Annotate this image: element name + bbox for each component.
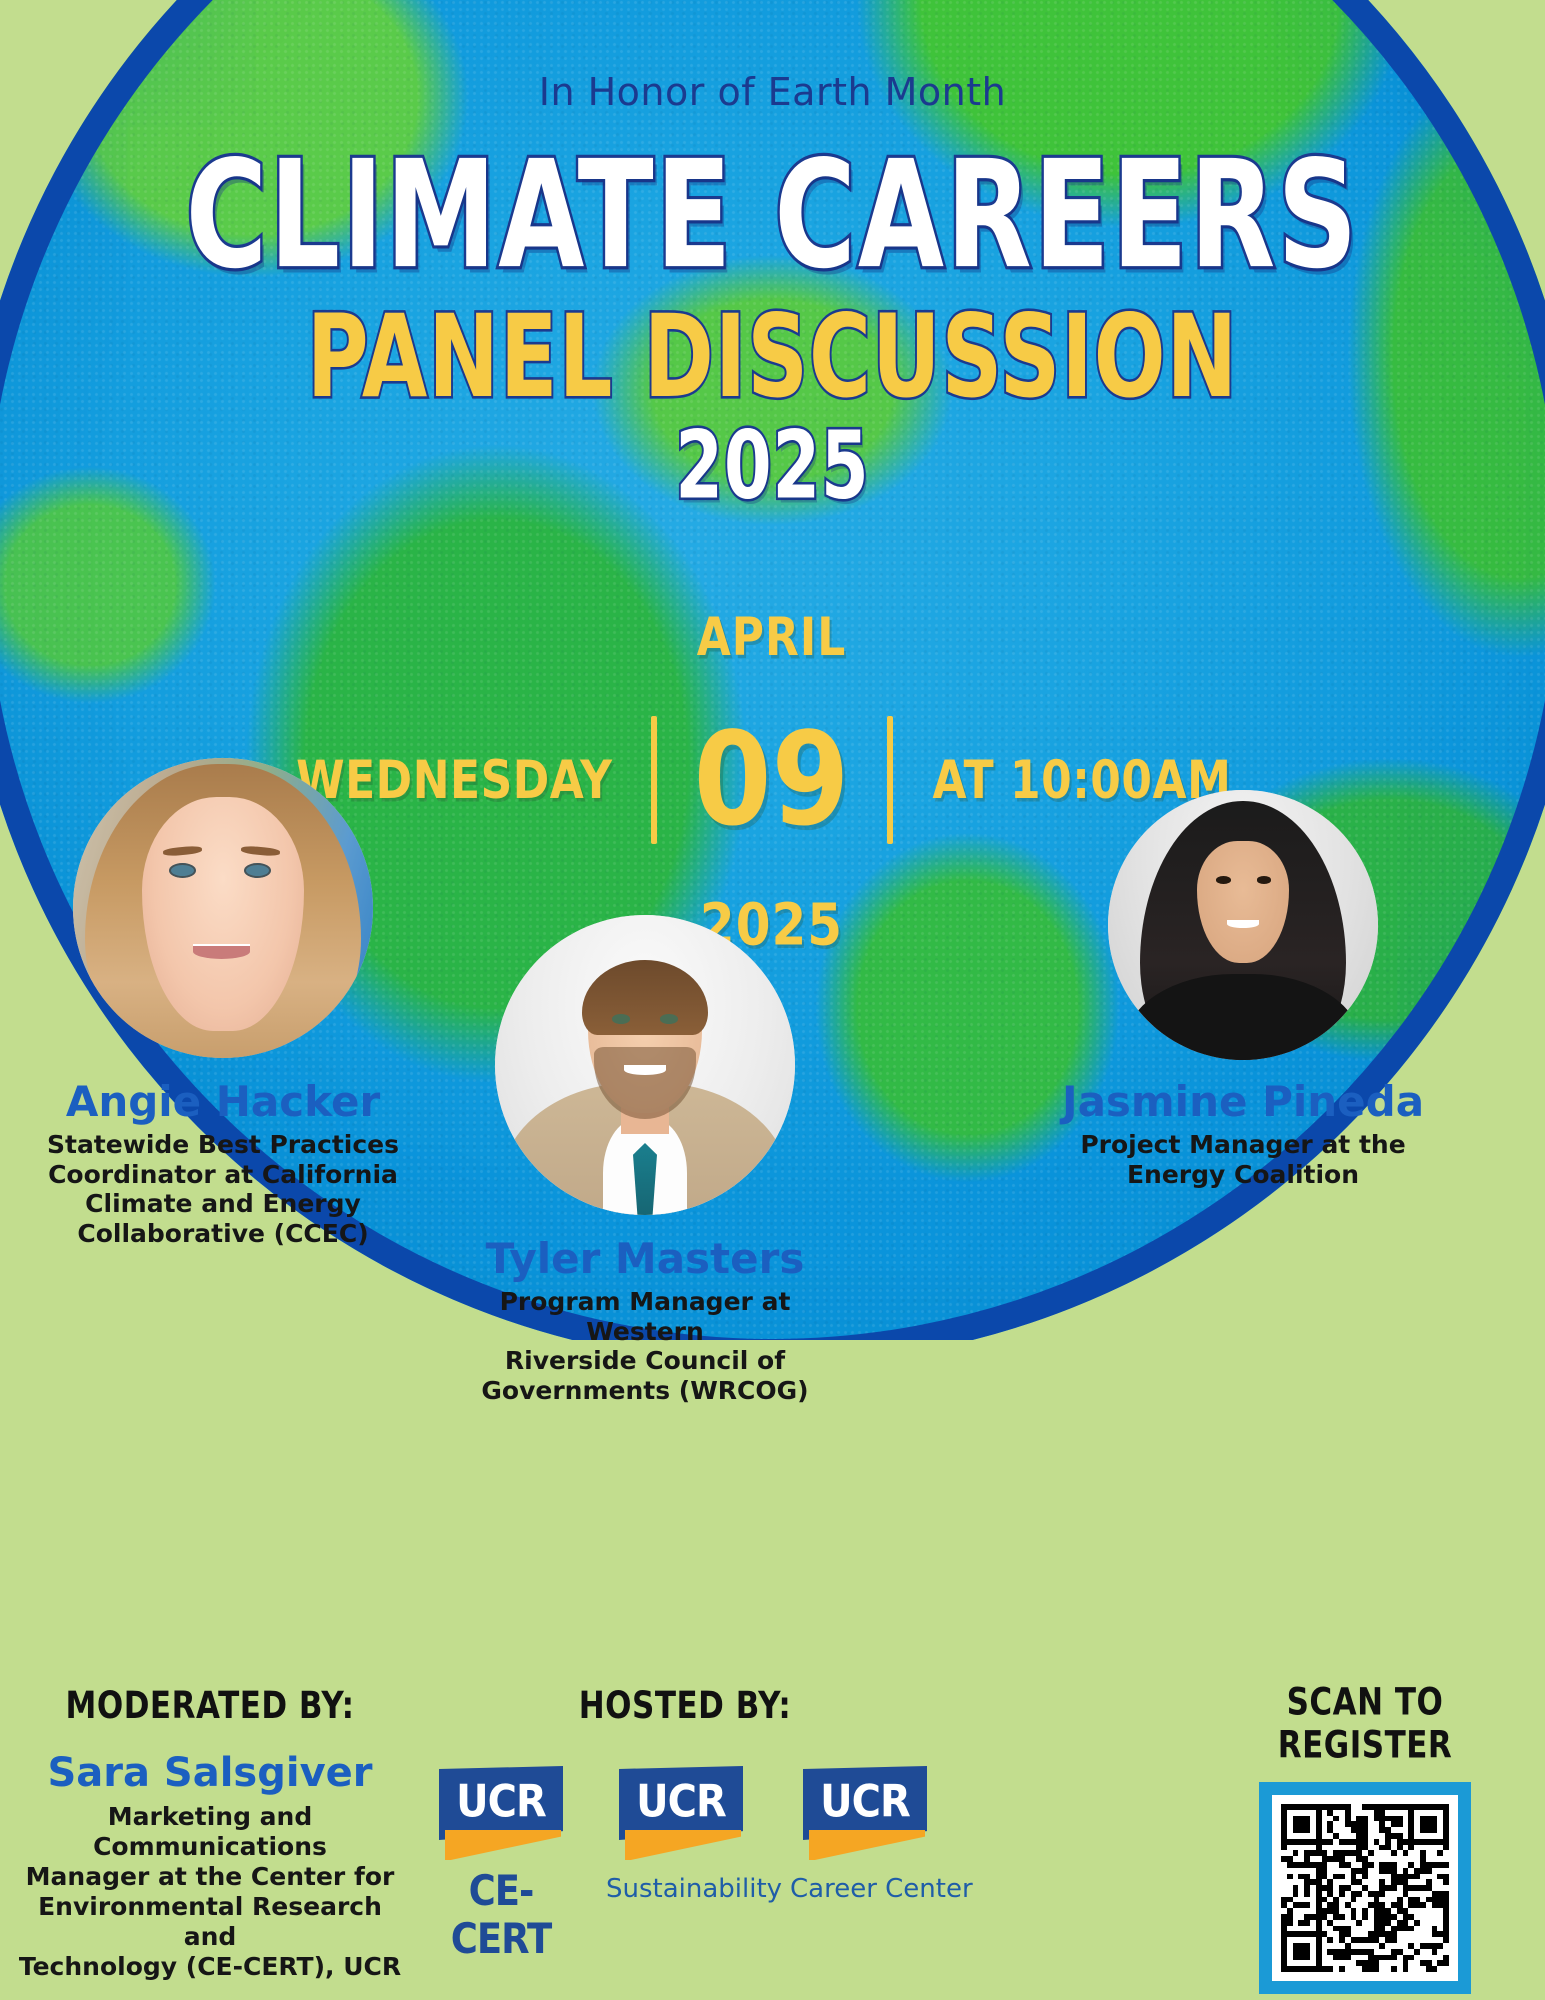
speaker-role: Program Manager at Western Riverside Cou… (450, 1287, 840, 1405)
ucr-sustainability-logo: UCR Sustainability (606, 1766, 756, 1904)
ucr-gold-tail-icon (625, 1830, 741, 1860)
avatar-art (73, 758, 373, 1058)
event-date-center: APRIL 09 2025 (657, 724, 887, 836)
ucr-wordmark: UCR (820, 1776, 910, 1828)
avatar-art (495, 915, 795, 1215)
speaker-card-jasmine-pineda: Jasmine Pineda Project Manager at the En… (1048, 790, 1438, 1189)
avatar-art (1108, 790, 1378, 1060)
eyebrow-text: In Honor of Earth Month (0, 70, 1545, 114)
scan-to-register-label: SCAN TO REGISTER (1205, 1681, 1525, 1767)
event-day: 09 (657, 716, 887, 845)
hosted-by-label: HOSTED BY: (430, 1684, 940, 1727)
tyler-masters-headshot (495, 915, 795, 1215)
qr-code-frame[interactable] (1259, 1782, 1471, 1994)
speaker-name: Angie Hacker (28, 1080, 418, 1124)
host-logo-row: UCR CE-CERT UCR Sustainability UCR Caree… (430, 1766, 940, 1958)
speaker-name: Tyler Masters (450, 1237, 840, 1281)
speaker-card-tyler-masters: Tyler Masters Program Manager at Western… (450, 915, 840, 1405)
speaker-card-angie-hacker: Angie Hacker Statewide Best Practices Co… (28, 758, 418, 1248)
angie-hacker-headshot (73, 758, 373, 1058)
hosts-block: HOSTED BY: UCR CE-CERT UCR Sustainabilit… (430, 1688, 940, 1958)
qr-code-icon[interactable] (1281, 1804, 1449, 1972)
moderated-by-label: MODERATED BY: (10, 1684, 410, 1727)
ucr-wordmark: UCR (636, 1776, 726, 1828)
qr-code-quiet-zone (1272, 1795, 1458, 1981)
logo-caption: Career Center (790, 1874, 940, 1904)
ucr-logo-icon: UCR (803, 1766, 927, 1858)
speaker-role: Statewide Best Practices Coordinator at … (28, 1130, 418, 1248)
register-block: SCAN TO REGISTER (1205, 1688, 1525, 1994)
ucr-logo-icon: UCR (619, 1766, 743, 1858)
event-month: APRIL (657, 607, 887, 668)
moderator-role: Marketing and Communications Manager at … (10, 1802, 410, 1982)
moderator-block: MODERATED BY: Sara Salsgiver Marketing a… (10, 1688, 410, 1982)
jasmine-pineda-headshot (1108, 790, 1378, 1060)
logo-caption: CE-CERT (430, 1867, 572, 1963)
moderator-name: Sara Salsgiver (10, 1750, 410, 1796)
ucr-gold-tail-icon (445, 1830, 561, 1860)
page-subtitle: PANEL DISCUSSION (31, 300, 1514, 414)
ucr-logo-icon: UCR (439, 1766, 563, 1858)
speaker-name: Jasmine Pineda (1048, 1080, 1438, 1124)
speaker-role: Project Manager at the Energy Coalition (1048, 1130, 1438, 1189)
logo-caption: Sustainability (606, 1874, 756, 1904)
ucr-career-center-logo: UCR Career Center (790, 1766, 940, 1904)
ucr-gold-tail-icon (809, 1830, 925, 1860)
event-poster: In Honor of Earth Month CLIMATE CAREERS … (0, 0, 1545, 2000)
page-title-year: 2025 (39, 418, 1507, 512)
page-title: CLIMATE CAREERS (31, 142, 1514, 290)
ucr-cecert-logo: UCR CE-CERT (430, 1766, 572, 1958)
ucr-wordmark: UCR (456, 1776, 546, 1828)
